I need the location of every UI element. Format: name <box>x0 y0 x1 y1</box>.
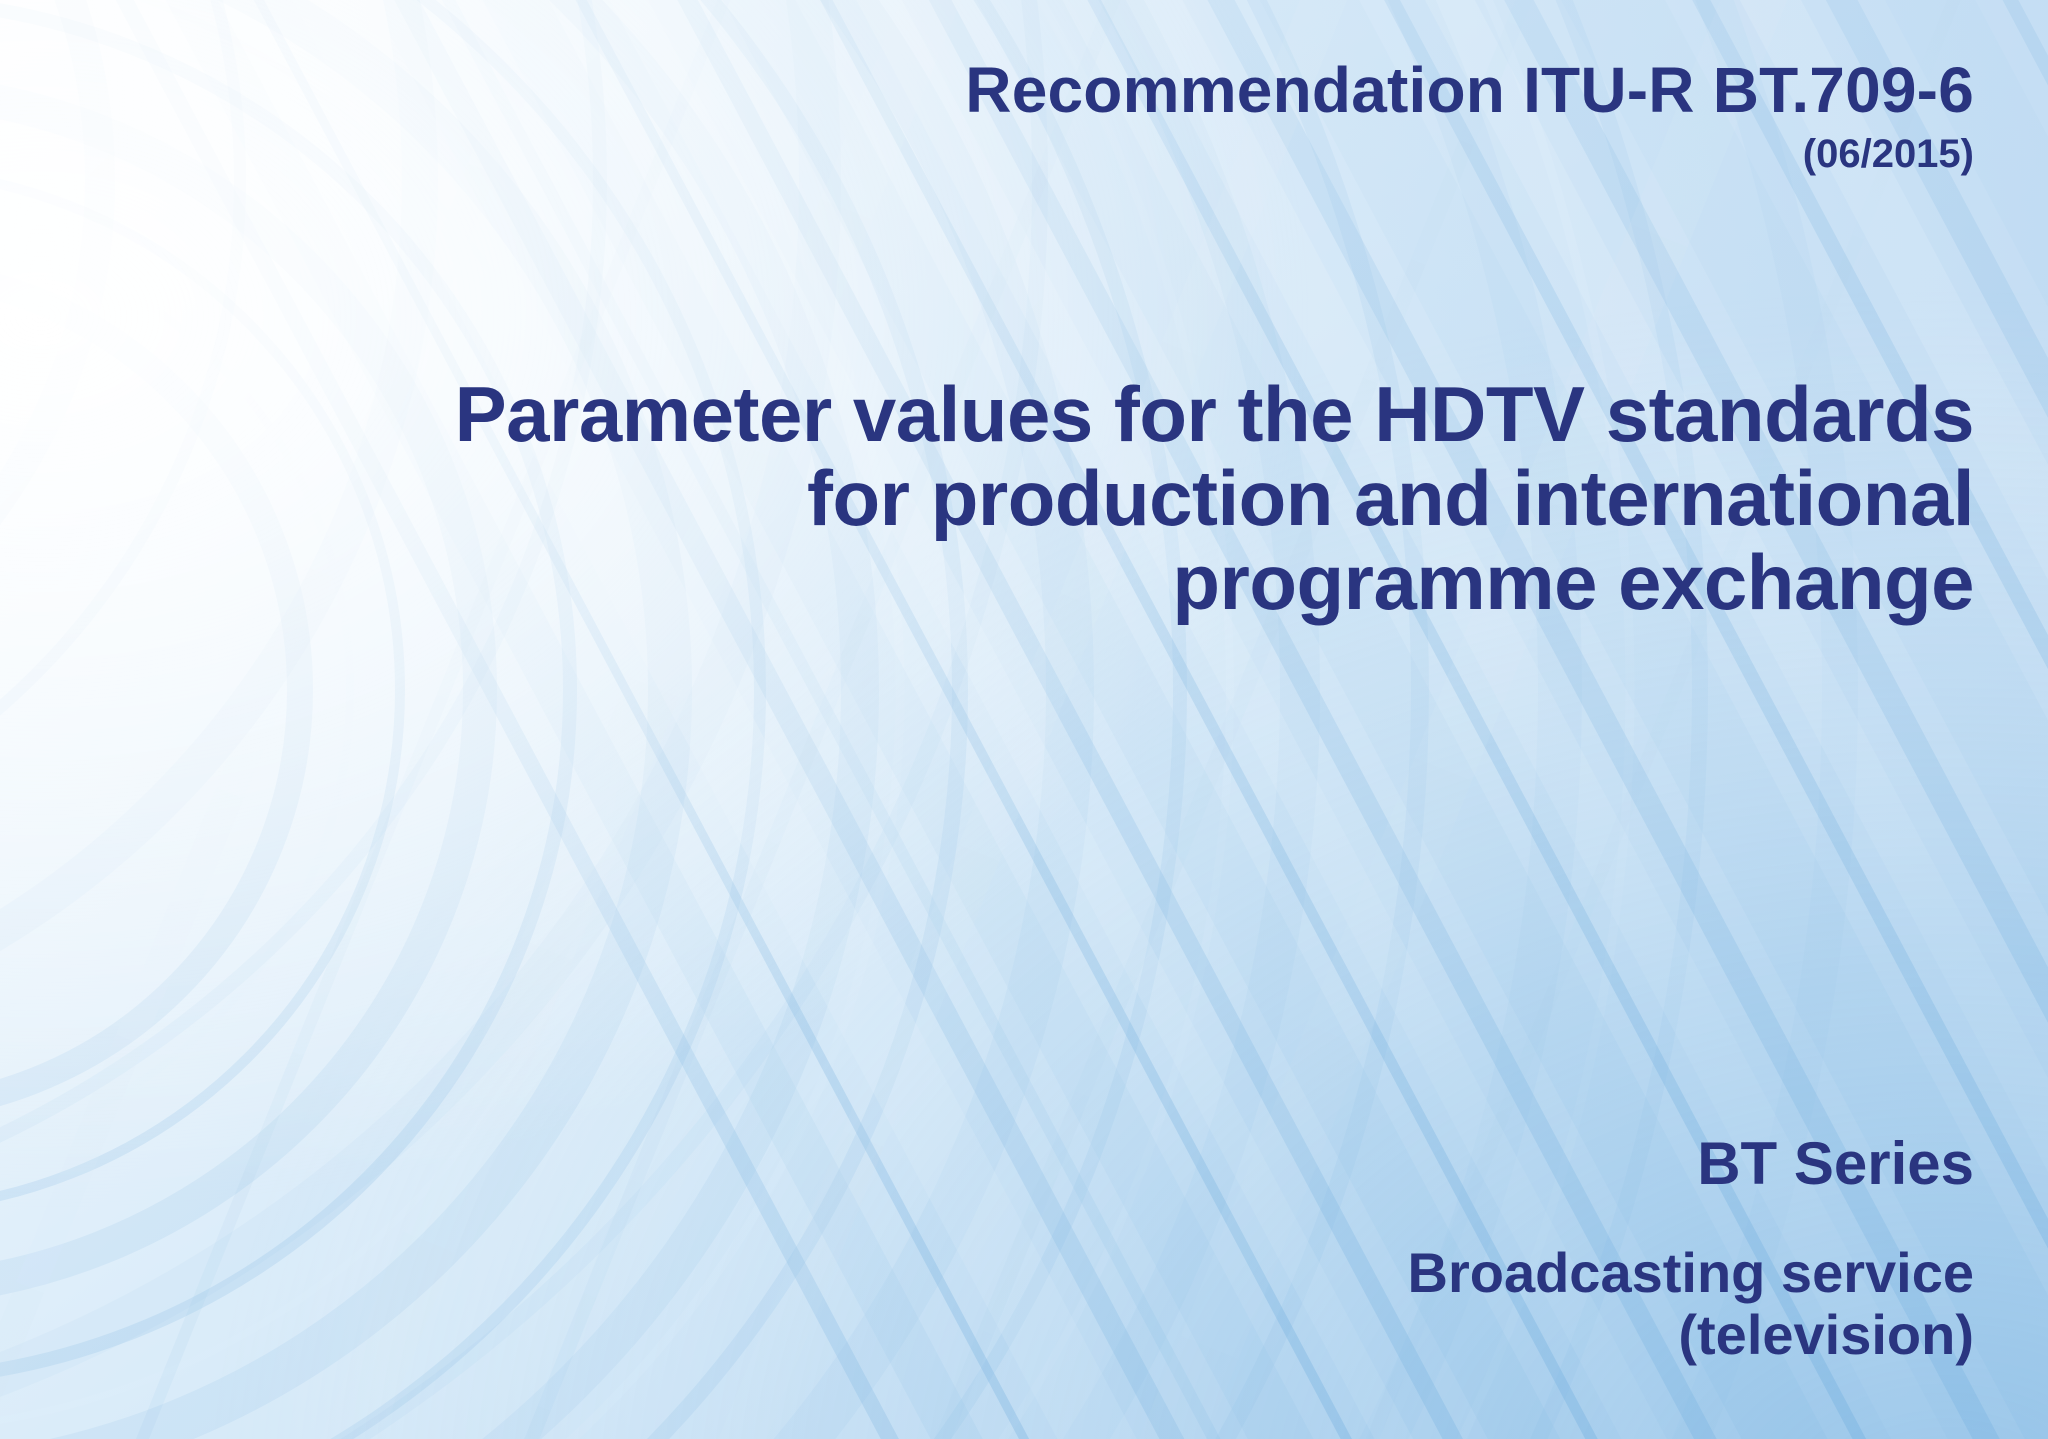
recommendation-header: RecommendationITU-RBT.709-6 (06/2015) <box>965 58 1974 174</box>
organisation-label: ITU-R <box>1523 54 1695 126</box>
series-description-line-1: Broadcasting service <box>1408 1242 1974 1305</box>
recommendation-date: (06/2015) <box>965 134 1974 174</box>
series-description-line-2: (television) <box>1408 1304 1974 1367</box>
recommendation-prefix-label: Recommendation <box>965 54 1505 126</box>
document-title: Parameter values for the HDTV standards … <box>60 372 1974 625</box>
cover-page: RecommendationITU-RBT.709-6 (06/2015) Pa… <box>0 0 2048 1439</box>
title-line-1: Parameter values for the HDTV standards <box>60 372 1974 456</box>
series-information: BT Series Broadcasting service (televisi… <box>1408 1130 1974 1367</box>
cover-content: RecommendationITU-RBT.709-6 (06/2015) Pa… <box>0 0 2048 1439</box>
recommendation-identifier: RecommendationITU-RBT.709-6 <box>965 58 1974 122</box>
series-name: BT Series <box>1408 1130 1974 1197</box>
recommendation-number: BT.709-6 <box>1713 54 1974 126</box>
title-line-2: for production and international <box>60 456 1974 540</box>
title-line-3: programme exchange <box>60 540 1974 624</box>
